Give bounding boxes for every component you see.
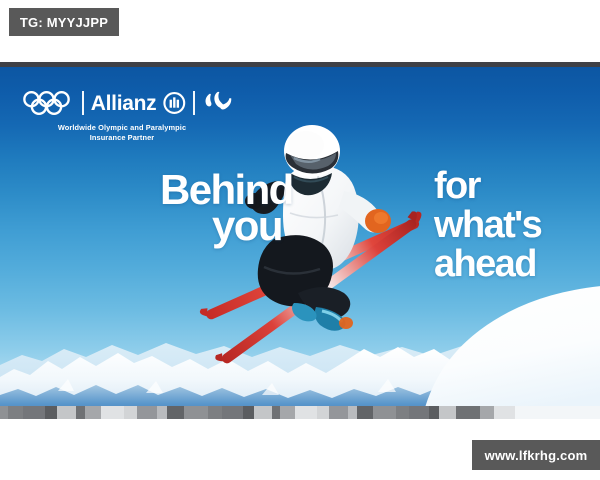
- paralympic-agitos-icon: [202, 90, 234, 116]
- watermark-top-left-text: TG: MYYJJPP: [20, 15, 108, 30]
- partner-tagline-line-1: Worldwide Olympic and Paralympic: [22, 123, 222, 133]
- headline-whats: what's: [434, 206, 594, 245]
- partner-tagline-line-2: Insurance Partner: [22, 133, 222, 143]
- allianz-bars-circle-icon: [163, 91, 186, 115]
- headline-you: you: [212, 206, 282, 246]
- pixelated-censor-strip: [0, 406, 600, 419]
- allianz-wordmark: Allianz: [91, 93, 157, 114]
- logo-divider-left: [82, 91, 84, 115]
- headline-for-whats-ahead: for what's ahead: [434, 167, 594, 283]
- partner-tagline: Worldwide Olympic and Paralympic Insuran…: [22, 123, 222, 143]
- watermark-bottom-right: www.lfkrhg.com: [472, 440, 600, 470]
- olympic-rings-icon: [22, 90, 75, 116]
- logo-row: Allianz: [22, 88, 234, 118]
- logo-divider-right: [193, 91, 195, 115]
- advertisement-image: Allianz Worldwide Olympic and Paralympic: [0, 62, 600, 419]
- watermark-bottom-right-text: www.lfkrhg.com: [485, 448, 588, 463]
- top-gray-band: [0, 62, 600, 67]
- brand-logo-lockup: Allianz Worldwide Olympic and Paralympic: [22, 88, 234, 143]
- headline-for: for: [434, 167, 594, 206]
- headline-ahead: ahead: [434, 245, 594, 284]
- watermark-top-left: TG: MYYJJPP: [9, 8, 119, 36]
